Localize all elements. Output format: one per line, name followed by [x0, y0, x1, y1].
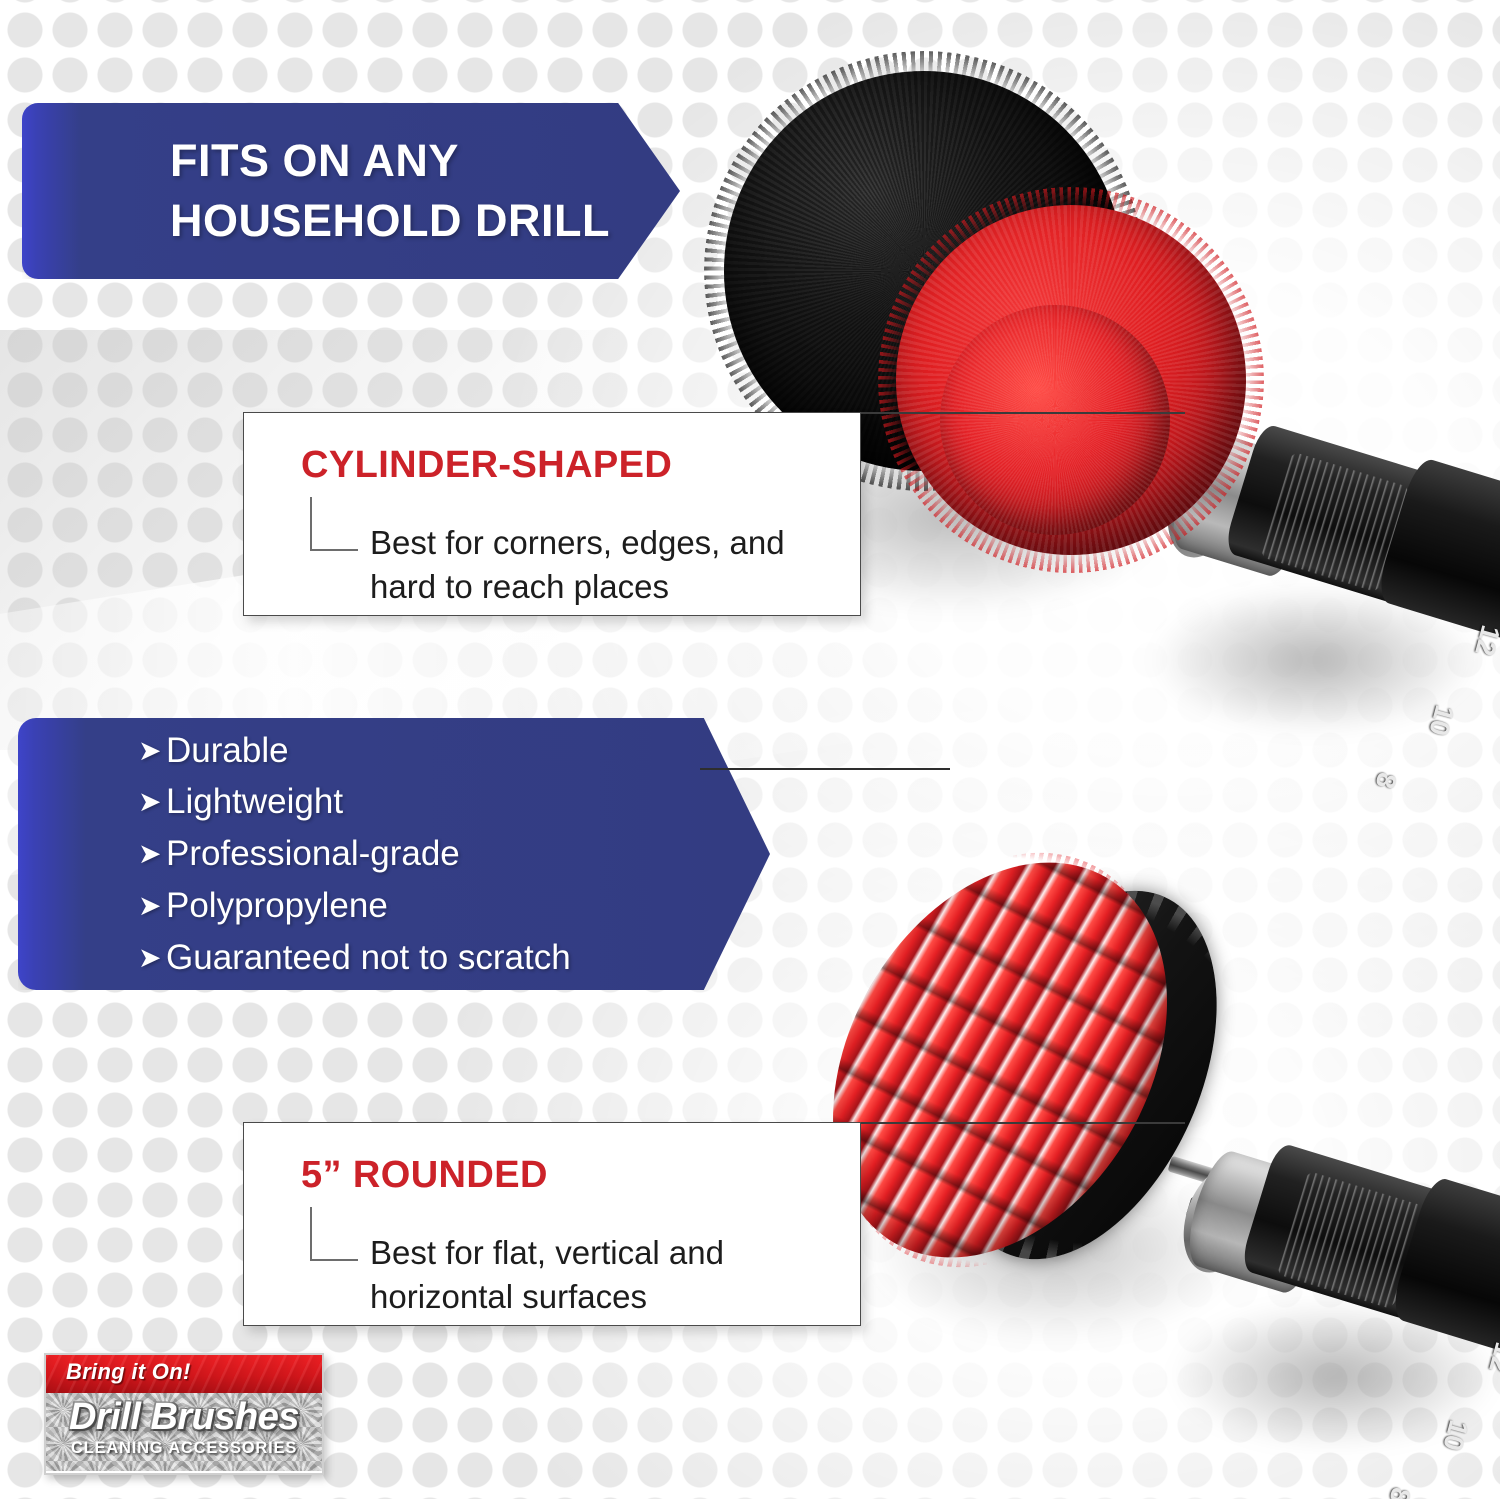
logo-tagline: Bring it On! — [46, 1355, 322, 1385]
feature-label: Polypropylene — [166, 880, 388, 932]
feature-label: Durable — [166, 725, 289, 777]
headline-banner: FITS ON ANY HOUSEHOLD DRILL — [22, 103, 680, 279]
cylinder-red-bristles-front — [940, 305, 1170, 535]
feature-label: Guaranteed not to scratch — [166, 932, 571, 984]
chevron-right-icon: ➤ — [138, 840, 166, 868]
callout-rounded-title: 5” ROUNDED — [301, 1154, 860, 1197]
brand-logo: Bring it On! Drill Brushes CLEANING ACCE… — [44, 1353, 324, 1475]
callout-cylinder-title: CYLINDER-SHAPED — [301, 444, 860, 487]
logo-metal-band: Drill Brushes CLEANING ACCESSORIES — [46, 1393, 322, 1471]
product-infographic: FITS ON ANY HOUSEHOLD DRILL 12 1 — [0, 0, 1500, 1499]
list-item: ➤ Professional-grade — [138, 828, 571, 880]
chevron-right-icon: ➤ — [138, 892, 166, 920]
logo-brand-name: Drill Brushes — [46, 1393, 322, 1436]
cylinder-red-front-texture — [940, 305, 1170, 535]
chevron-right-icon: ➤ — [138, 788, 166, 816]
features-list: ➤ Durable ➤ Lightweight ➤ Professional-g… — [18, 725, 571, 984]
list-item: ➤ Polypropylene — [138, 880, 571, 932]
features-banner: ➤ Durable ➤ Lightweight ➤ Professional-g… — [18, 718, 770, 990]
rounded-brush-image — [840, 830, 1270, 1330]
callout-connector-line-bottom — [855, 1122, 1185, 1124]
callout-connector-line-top — [855, 412, 1185, 414]
elbow-connector-icon — [310, 497, 358, 551]
callout-rounded-body-wrap: Best for flat, vertical and horizontal s… — [310, 1205, 860, 1319]
chevron-right-icon: ➤ — [138, 944, 166, 972]
features-connector-line — [700, 768, 950, 770]
list-item: ➤ Lightweight — [138, 776, 571, 828]
logo-subtitle: CLEANING ACCESSORIES — [46, 1439, 322, 1458]
headline-text: FITS ON ANY HOUSEHOLD DRILL — [170, 131, 610, 251]
elbow-connector-icon — [310, 1207, 358, 1261]
callout-rounded-body: Best for flat, vertical and horizontal s… — [370, 1231, 724, 1319]
chevron-right-icon: ➤ — [138, 737, 166, 765]
list-item: ➤ Guaranteed not to scratch — [138, 932, 571, 984]
callout-cylinder-shaped: CYLINDER-SHAPED Best for corners, edges,… — [243, 412, 861, 616]
feature-label: Professional-grade — [166, 828, 460, 880]
clutch-number-8-bottom: 8 — [1383, 1484, 1417, 1499]
callout-cylinder-body-wrap: Best for corners, edges, and hard to rea… — [310, 495, 860, 609]
list-item: ➤ Durable — [138, 725, 571, 777]
callout-cylinder-body: Best for corners, edges, and hard to rea… — [370, 521, 785, 609]
feature-label: Lightweight — [166, 776, 343, 828]
headline-line-1: FITS ON ANY — [170, 131, 610, 191]
callout-five-inch-rounded: 5” ROUNDED Best for flat, vertical and h… — [243, 1122, 861, 1326]
headline-line-2: HOUSEHOLD DRILL — [170, 191, 610, 251]
logo-red-band: Bring it On! — [46, 1355, 322, 1393]
